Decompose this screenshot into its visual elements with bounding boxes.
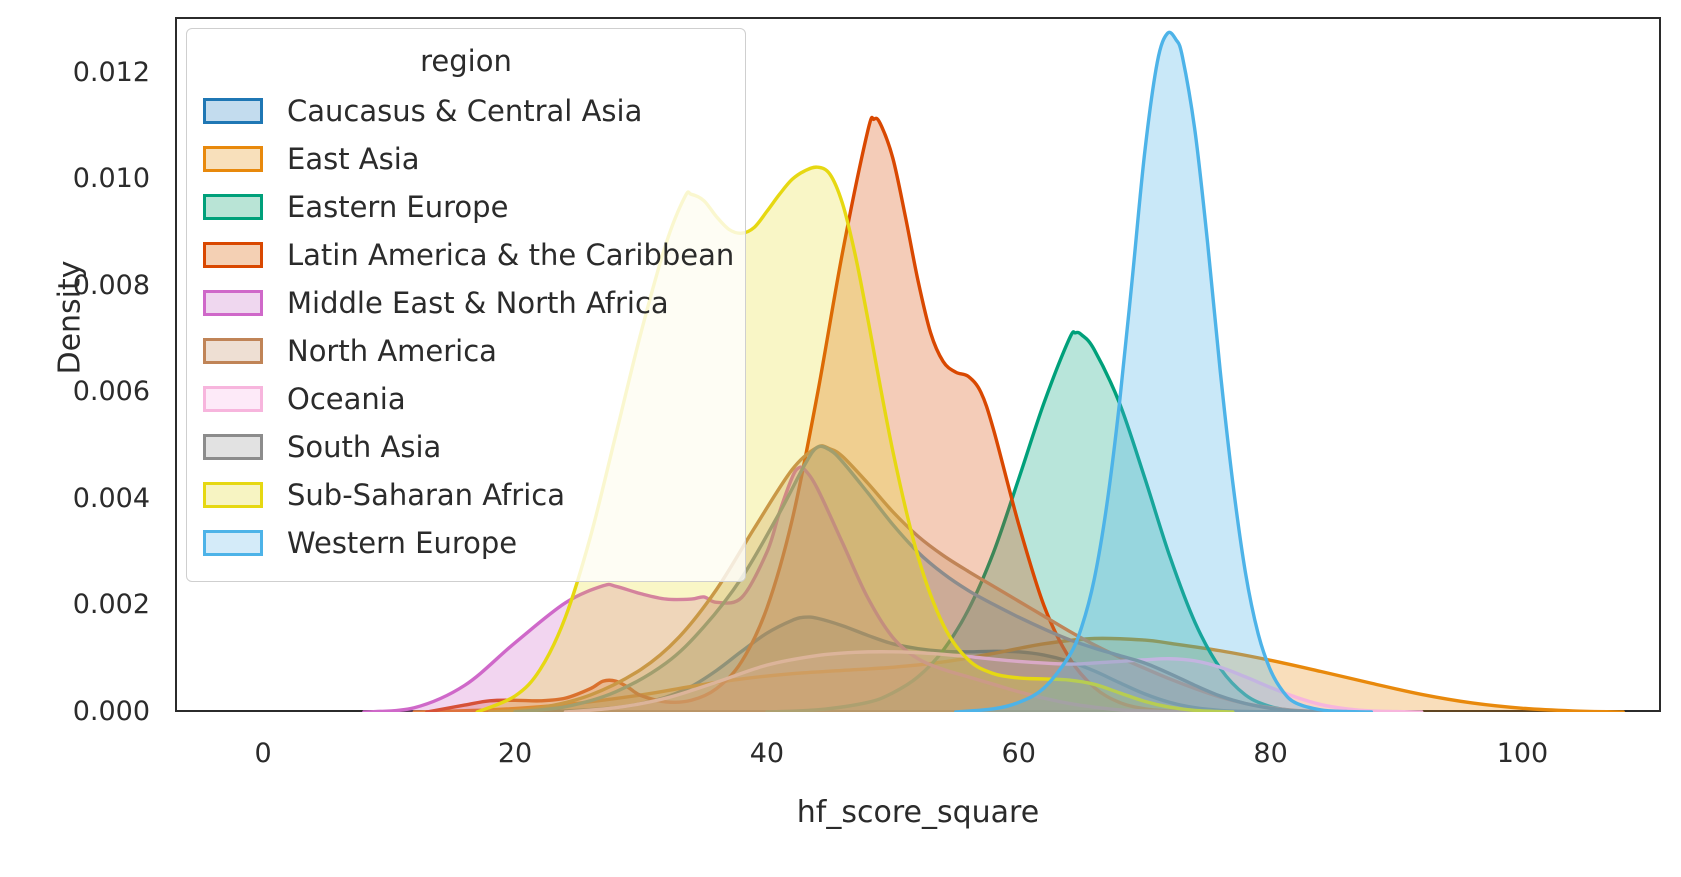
y-tick-label: 0.004 bbox=[10, 485, 150, 512]
legend-item-label: Caucasus & Central Asia bbox=[287, 95, 642, 127]
y-tick-label: 0.002 bbox=[10, 591, 150, 618]
legend[interactable]: region Caucasus & Central AsiaEast AsiaE… bbox=[186, 28, 746, 582]
legend-swatch-icon bbox=[203, 482, 263, 508]
legend-swatch-icon bbox=[203, 434, 263, 460]
legend-item[interactable]: Eastern Europe bbox=[203, 183, 729, 231]
legend-item[interactable]: North America bbox=[203, 327, 729, 375]
legend-swatch-icon bbox=[203, 98, 263, 124]
legend-item-label: Sub-Saharan Africa bbox=[287, 479, 565, 511]
legend-item[interactable]: Latin America & the Caribbean bbox=[203, 231, 729, 279]
y-tick-label: 0.000 bbox=[10, 698, 150, 725]
y-tick-label: 0.008 bbox=[10, 272, 150, 299]
legend-title: region bbox=[203, 45, 729, 77]
legend-item-label: Middle East & North Africa bbox=[287, 287, 669, 319]
legend-item[interactable]: Sub-Saharan Africa bbox=[203, 471, 729, 519]
x-axis-title: hf_score_square bbox=[175, 795, 1661, 830]
legend-item-label: East Asia bbox=[287, 143, 420, 175]
legend-item-label: South Asia bbox=[287, 431, 441, 463]
legend-item[interactable]: Middle East & North Africa bbox=[203, 279, 729, 327]
x-tick-label: 80 bbox=[1211, 740, 1331, 767]
legend-item[interactable]: Oceania bbox=[203, 375, 729, 423]
legend-item-label: Western Europe bbox=[287, 527, 517, 559]
legend-item-label: Eastern Europe bbox=[287, 191, 508, 223]
legend-entries: Caucasus & Central AsiaEast AsiaEastern … bbox=[203, 87, 729, 567]
legend-item[interactable]: East Asia bbox=[203, 135, 729, 183]
density-plot-figure: Density 0.0120.0100.0080.0060.0040.0020.… bbox=[0, 0, 1681, 877]
legend-swatch-icon bbox=[203, 242, 263, 268]
legend-swatch-icon bbox=[203, 386, 263, 412]
x-tick-label: 20 bbox=[455, 740, 575, 767]
x-tick-label: 0 bbox=[203, 740, 323, 767]
legend-swatch-icon bbox=[203, 146, 263, 172]
legend-swatch-icon bbox=[203, 194, 263, 220]
legend-item-label: North America bbox=[287, 335, 497, 367]
x-tick-label: 40 bbox=[707, 740, 827, 767]
legend-item[interactable]: Caucasus & Central Asia bbox=[203, 87, 729, 135]
legend-item[interactable]: Western Europe bbox=[203, 519, 729, 567]
x-tick-label: 60 bbox=[959, 740, 1079, 767]
legend-swatch-icon bbox=[203, 290, 263, 316]
y-tick-label: 0.012 bbox=[10, 59, 150, 86]
legend-item-label: Oceania bbox=[287, 383, 406, 415]
legend-item-label: Latin America & the Caribbean bbox=[287, 239, 734, 271]
y-tick-label: 0.010 bbox=[10, 165, 150, 192]
y-tick-label: 0.006 bbox=[10, 378, 150, 405]
x-tick-label: 100 bbox=[1462, 740, 1582, 767]
legend-swatch-icon bbox=[203, 338, 263, 364]
legend-item[interactable]: South Asia bbox=[203, 423, 729, 471]
legend-swatch-icon bbox=[203, 530, 263, 556]
